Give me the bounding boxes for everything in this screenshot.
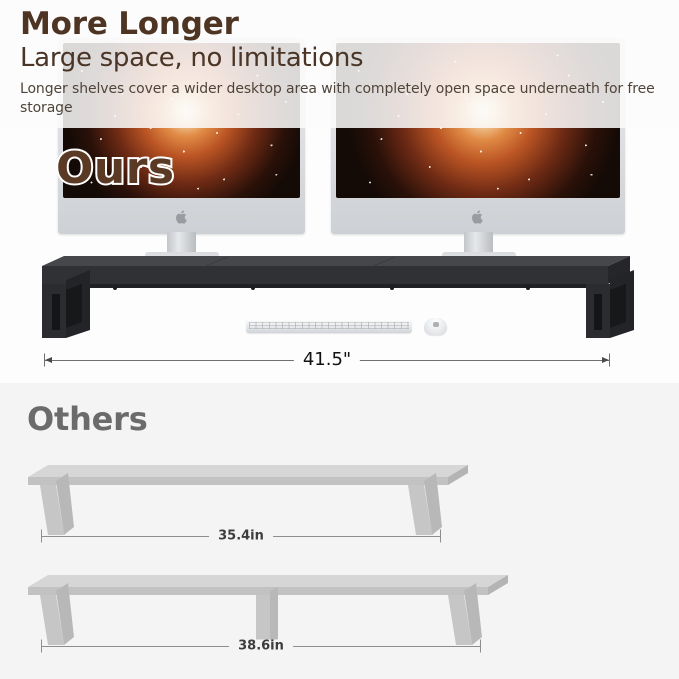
shelf-front-face — [42, 266, 608, 284]
shelf-foot-nub — [390, 286, 394, 290]
page-subtitle: Large space, no limitations — [20, 43, 660, 74]
shelf-underside-rail — [42, 284, 608, 288]
dimension-arrow-right-icon — [602, 357, 609, 363]
ours-dimension-line: 41.5" — [44, 352, 610, 368]
page-description: Longer shelves cover a wider desktop are… — [20, 80, 660, 119]
competitor-shelf-1-dimension-line: 35.4in — [41, 528, 441, 544]
shelf2-center-leg-side — [270, 587, 278, 645]
ours-section: Ours — [0, 0, 679, 383]
ours-monitor-stand — [0, 238, 679, 348]
apple-logo-icon — [472, 209, 485, 225]
shelf2-top-surface — [28, 575, 508, 587]
shelf1-top-surface — [28, 465, 468, 477]
shelf1-front-face — [28, 477, 448, 485]
others-section: Others 35.4in — [0, 383, 679, 679]
competitor-shelf-2-dimension-label: 38.6in — [229, 640, 293, 653]
ours-dimension-label: 41.5" — [294, 351, 360, 369]
competitor-shelf-1-dimension-label: 35.4in — [209, 530, 273, 543]
shelf-foot-nub — [526, 286, 530, 290]
competitor-shelf-2-dimension-line: 38.6in — [41, 638, 481, 654]
dimension-cap-right — [440, 530, 441, 543]
dimension-cap-left — [41, 640, 42, 653]
others-title: Others — [27, 400, 148, 438]
shelf-foot-nub — [113, 286, 117, 290]
apple-logo-icon — [175, 209, 188, 225]
dimension-arrow-left-icon — [45, 357, 52, 363]
dimension-cap-right — [480, 640, 481, 653]
ours-badge: Ours — [56, 143, 175, 194]
shelf-foot-nub — [251, 286, 255, 290]
shelf-top-surface — [42, 256, 630, 266]
dimension-cap-right — [609, 354, 610, 367]
shelf2-front-face — [28, 587, 488, 595]
headline-block: More Longer Large space, no limitations … — [20, 8, 660, 118]
product-comparison-infographic: Ours — [0, 0, 679, 679]
page-title: More Longer — [20, 8, 660, 41]
dimension-cap-left — [41, 530, 42, 543]
